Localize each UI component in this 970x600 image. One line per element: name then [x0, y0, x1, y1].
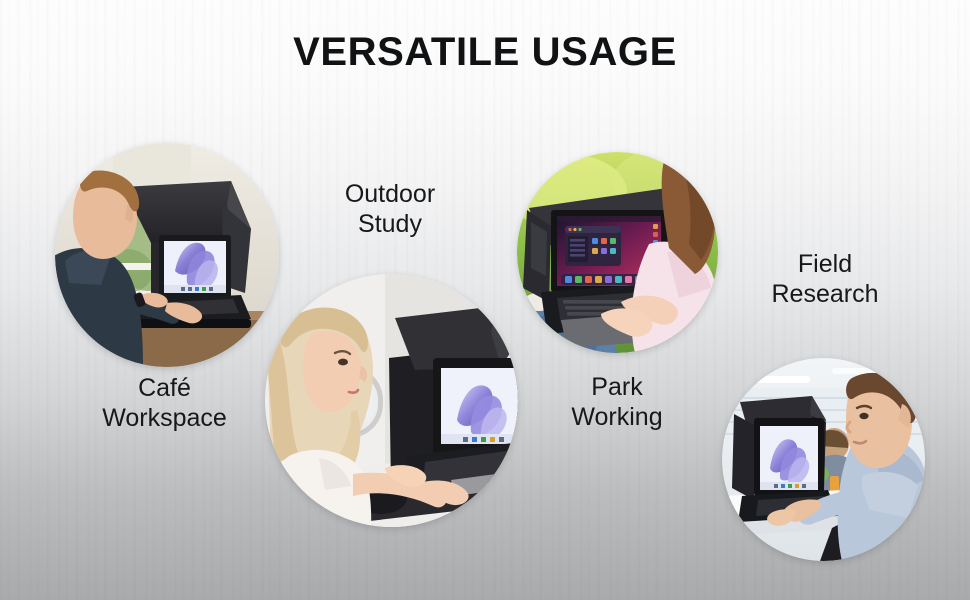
page-title: VERSATILE USAGE [0, 30, 970, 75]
infographic-poster: VERSATILE USAGE [0, 0, 970, 600]
photo-field-research [722, 358, 925, 561]
photo-cafe-workspace [55, 143, 279, 367]
label-park-working: Park Working [527, 373, 707, 432]
photo-park-working [517, 152, 718, 353]
label-field-research: Field Research [732, 250, 918, 309]
photo-outdoor-study [265, 274, 518, 527]
label-outdoor-study: Outdoor Study [292, 180, 488, 239]
label-cafe-workspace: Café Workspace [52, 374, 277, 433]
